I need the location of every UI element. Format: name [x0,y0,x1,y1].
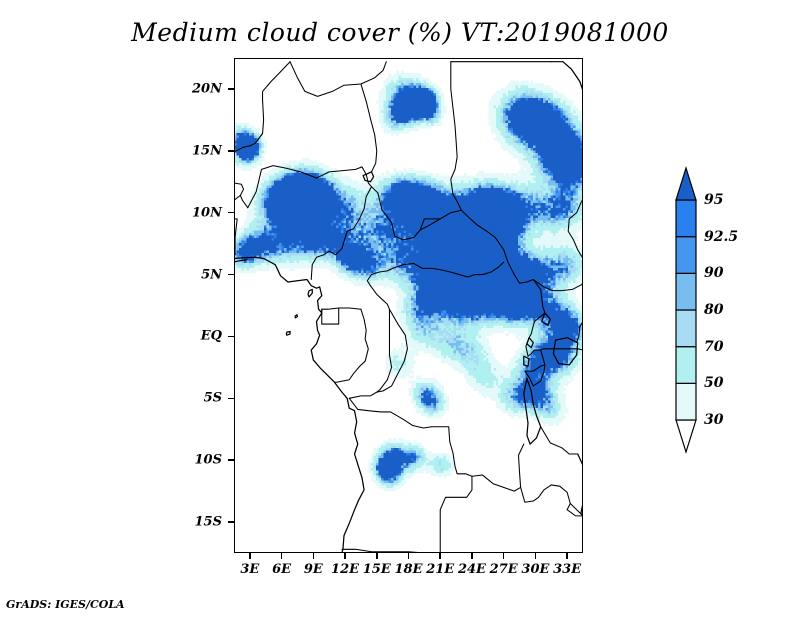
y-axis-tick [228,336,234,338]
page-title: Medium cloud cover (%) VT:2019081000 [0,18,800,47]
x-axis-label: 24E [458,562,486,577]
colorbar: 9592.59080705030 [665,160,785,460]
y-axis-label: 15S [164,515,222,530]
x-axis-tick [439,553,441,559]
colorbar-tick-label: 90 [704,265,723,281]
y-axis-tick [228,274,234,276]
y-axis-tick [228,398,234,400]
colorbar-tick-label: 92.5 [704,229,738,245]
x-axis-tick [249,553,251,559]
x-axis-tick [344,553,346,559]
colorbar-tick-label: 50 [704,375,723,391]
y-axis-label: 15N [164,143,222,158]
x-axis-label: 12E [331,562,359,577]
y-axis-label: 10N [164,205,222,220]
x-axis-label: 27E [490,562,518,577]
y-axis-tick [228,150,234,152]
y-axis-tick [228,459,234,461]
x-axis-tick [503,553,505,559]
colorbar-tick-label: 80 [704,302,723,318]
grads-plot-window: Medium cloud cover (%) VT:2019081000 20N… [0,0,800,618]
x-axis-tick [471,553,473,559]
x-axis-label: 9E [304,562,323,577]
colorbar-tick-label: 30 [704,412,723,428]
colorbar-swatches [665,160,785,460]
x-axis-label: 18E [395,562,423,577]
x-axis-tick [313,553,315,559]
map-plot-area [234,58,583,553]
y-axis-label: 10S [164,453,222,468]
colorbar-tick-label: 95 [704,192,723,208]
x-axis-tick [376,553,378,559]
y-axis-tick [228,88,234,90]
y-axis-label: 20N [164,81,222,96]
x-axis-label: 15E [363,562,391,577]
x-axis-label: 3E [240,562,259,577]
x-axis-label: 6E [272,562,291,577]
x-axis-tick [566,553,568,559]
y-axis-tick [228,521,234,523]
x-axis-tick [408,553,410,559]
y-axis-label: EQ [164,329,222,344]
x-axis-label: 33E [553,562,581,577]
y-axis-label: 5N [164,267,222,282]
y-axis-tick [228,212,234,214]
x-axis-label: 30E [521,562,549,577]
x-axis-label: 21E [426,562,454,577]
cloud-cover-field [234,58,583,553]
x-axis-tick [535,553,537,559]
y-axis-label: 5S [164,391,222,406]
colorbar-tick-label: 70 [704,339,723,355]
x-axis-tick [281,553,283,559]
footer-credit: GrADS: IGES/COLA [6,598,125,611]
